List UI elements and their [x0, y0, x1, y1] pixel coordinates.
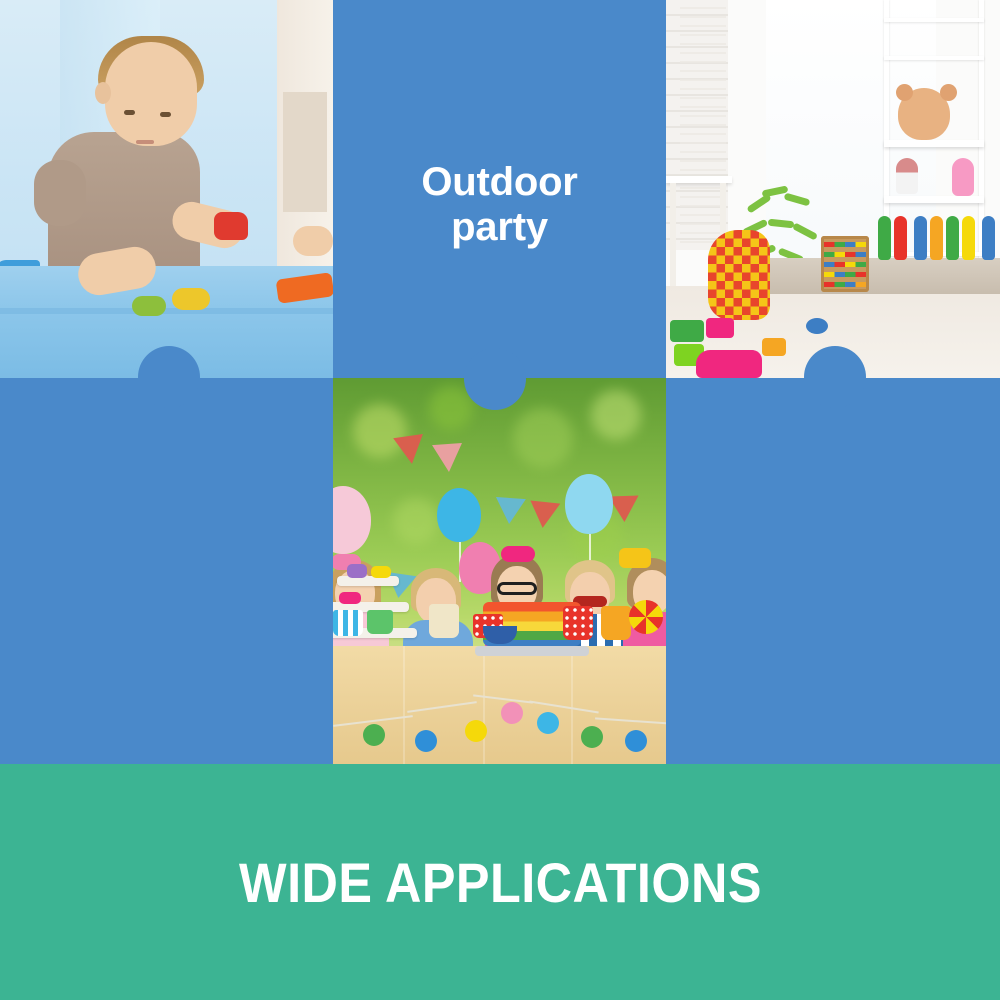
puzzle-tab-down-center — [464, 348, 526, 410]
cell-kids-room: Kid’s room — [666, 378, 1000, 764]
label-outdoor-party: Outdoor party — [333, 160, 666, 250]
photo-birthday-party-scene — [333, 378, 666, 764]
banner-title: WIDE APPLICATIONS — [239, 850, 762, 915]
application-collage: Outdoor party — [0, 0, 1000, 1000]
puzzle-tab-up-left — [138, 346, 200, 408]
photo-playroom-scene — [666, 0, 1000, 378]
cell-kindergarten: Kindergarten — [0, 378, 333, 764]
label-line-1: Outdoor — [421, 160, 577, 204]
puzzle-tab-up-right — [804, 346, 866, 408]
cell-outdoor-party: Outdoor party — [333, 0, 666, 378]
cell-playroom — [666, 0, 1000, 378]
wide-applications-banner: WIDE APPLICATIONS — [0, 764, 1000, 1000]
cell-birthday-party — [333, 378, 666, 764]
label-line-2: party — [451, 205, 548, 249]
cell-play-table — [0, 0, 333, 378]
photo-playdough-scene — [0, 0, 333, 378]
